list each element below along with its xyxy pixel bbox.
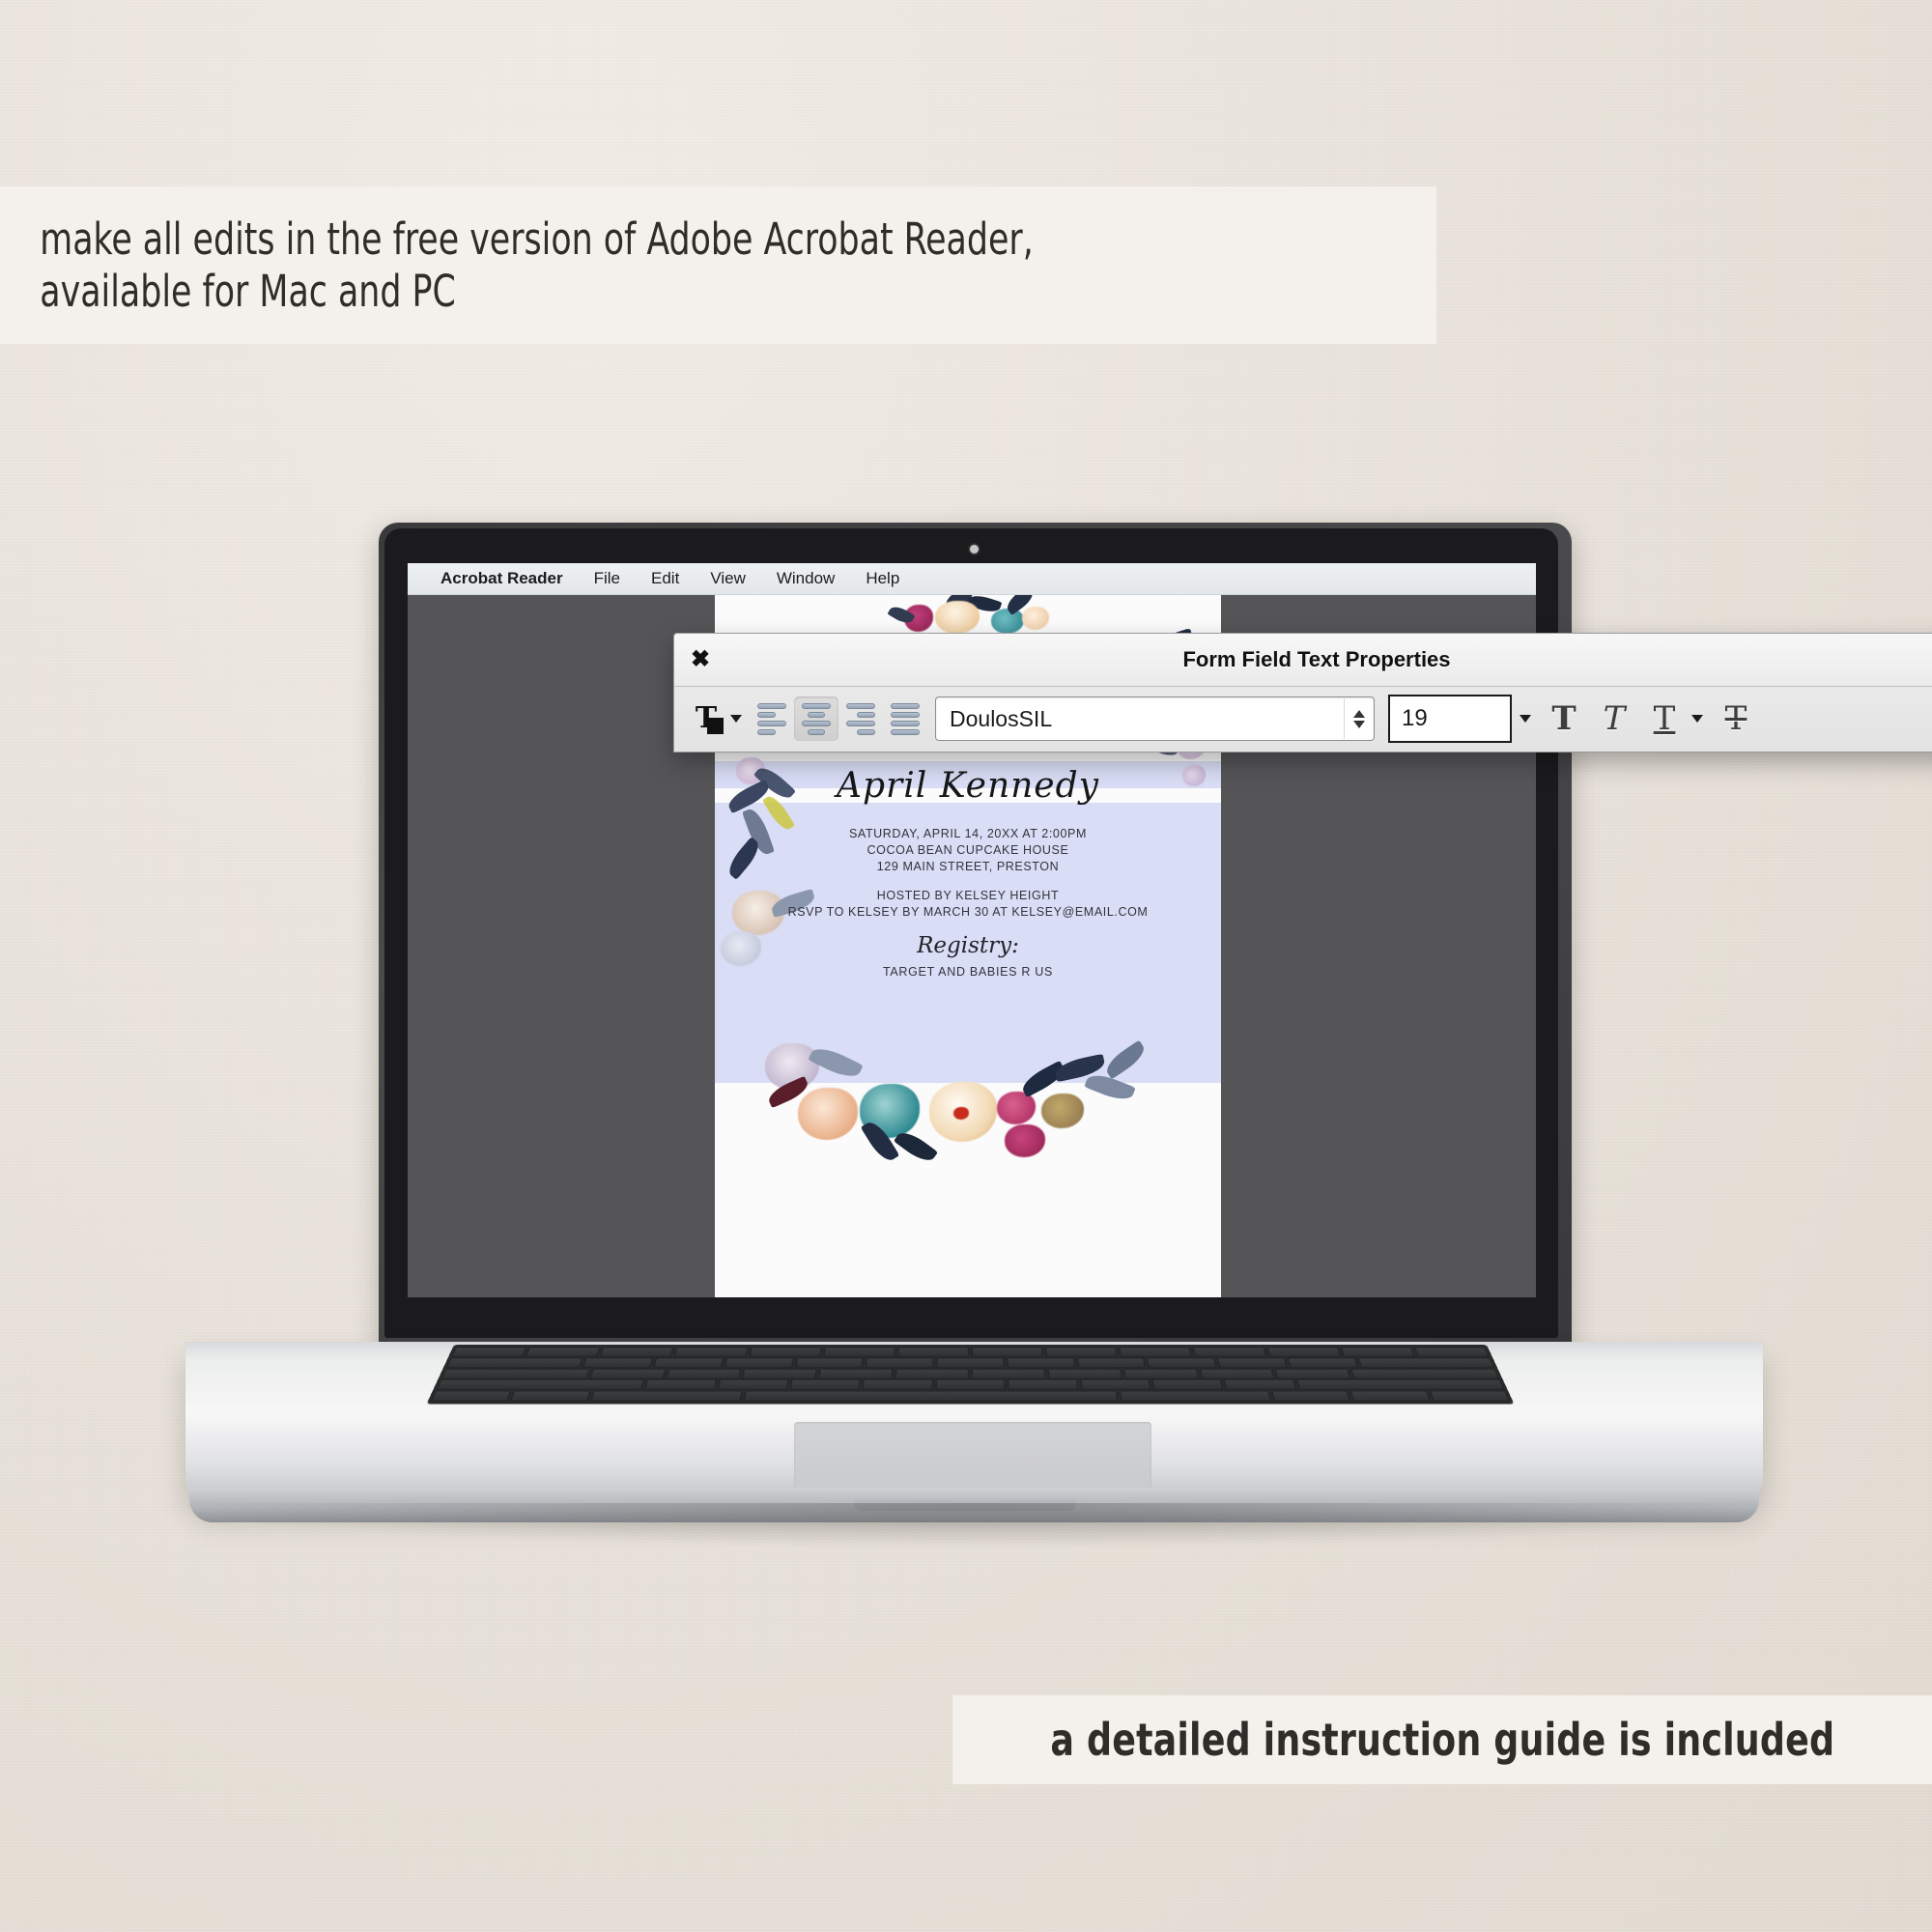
keyboard-row: [436, 1379, 1504, 1390]
invite-honoree-name[interactable]: April Kennedy: [715, 766, 1221, 806]
align-right-button[interactable]: [838, 696, 883, 741]
invite-registry-value: TARGET AND BABIES R US: [715, 965, 1221, 979]
font-name-stepper-icon[interactable]: [1344, 698, 1374, 739]
align-center-button[interactable]: [794, 696, 838, 741]
laptop-mockup: Acrobat Reader File Edit View Window Hel…: [0, 0, 1932, 1932]
keyboard-row: [441, 1369, 1500, 1379]
dialog-titlebar: ✖ Form Field Text Properties: [674, 634, 1932, 687]
keyboard-row: [431, 1391, 1510, 1402]
caption-banner-bottom: a detailed instruction guide is included: [952, 1695, 1932, 1784]
floral-cluster-bottom: [715, 1049, 1221, 1204]
chevron-up-icon-font: [1353, 710, 1365, 718]
invite-registry-label: Registry:: [715, 933, 1221, 958]
keyboard-row: [446, 1357, 1494, 1368]
text-tool-square-icon: [707, 718, 724, 734]
font-name-combobox[interactable]: DoulosSIL: [935, 696, 1375, 741]
menu-item-acrobat-reader[interactable]: Acrobat Reader: [425, 569, 579, 588]
webcam-icon: [970, 545, 979, 554]
align-left-button[interactable]: [750, 696, 794, 741]
font-name-value: DoulosSIL: [936, 706, 1052, 732]
menu-item-window[interactable]: Window: [761, 569, 850, 588]
chevron-down-icon-font-size[interactable]: [1520, 715, 1531, 723]
invite-detail-host: HOSTED BY KELSEY HEIGHT: [715, 889, 1221, 902]
laptop-shadow: [155, 1503, 1797, 1549]
align-justify-icon: [891, 703, 920, 735]
align-right-icon: [846, 703, 875, 735]
align-left-icon: [757, 703, 786, 735]
invite-detail-rsvp: RSVP TO KELSEY BY MARCH 30 AT KELSEY@EMA…: [715, 905, 1221, 919]
font-size-input[interactable]: 19: [1388, 695, 1512, 743]
laptop-keyboard: [427, 1345, 1515, 1404]
text-tool-icon: T: [687, 699, 725, 738]
chevron-down-icon-underline[interactable]: [1691, 715, 1703, 723]
menu-item-file[interactable]: File: [579, 569, 636, 588]
mac-menu-bar[interactable]: Acrobat Reader File Edit View Window Hel…: [408, 563, 1536, 595]
bold-button[interactable]: T: [1539, 695, 1589, 743]
menu-item-help[interactable]: Help: [850, 569, 915, 588]
keyboard-row: [451, 1347, 1490, 1356]
invite-detail-date: SATURDAY, APRIL 14, 20XX AT 2:00PM: [715, 827, 1221, 840]
invite-detail-venue: COCOA BEAN CUPCAKE HOUSE: [715, 843, 1221, 857]
align-justify-button[interactable]: [883, 696, 927, 741]
text-tool-button[interactable]: T: [684, 696, 728, 741]
underline-button[interactable]: T: [1639, 695, 1690, 743]
italic-button[interactable]: T: [1589, 695, 1639, 743]
menu-item-edit[interactable]: Edit: [636, 569, 695, 588]
chevron-down-icon-font: [1353, 721, 1365, 728]
dialog-title: Form Field Text Properties: [674, 647, 1932, 672]
form-field-text-properties-dialog[interactable]: ✖ Form Field Text Properties T DoulosSIL: [673, 633, 1932, 753]
menu-item-view[interactable]: View: [695, 569, 761, 588]
chevron-down-icon-text-tool[interactable]: [730, 715, 742, 723]
align-center-icon: [802, 703, 831, 735]
caption-bottom-text: a detailed instruction guide is included: [1050, 1714, 1834, 1766]
dialog-toolbar[interactable]: T DoulosSIL 19 T T T: [674, 687, 1932, 751]
invite-detail-address: 129 MAIN STREET, PRESTON: [715, 860, 1221, 873]
strikethrough-button[interactable]: T: [1711, 695, 1761, 743]
font-size-value: 19: [1390, 705, 1428, 732]
